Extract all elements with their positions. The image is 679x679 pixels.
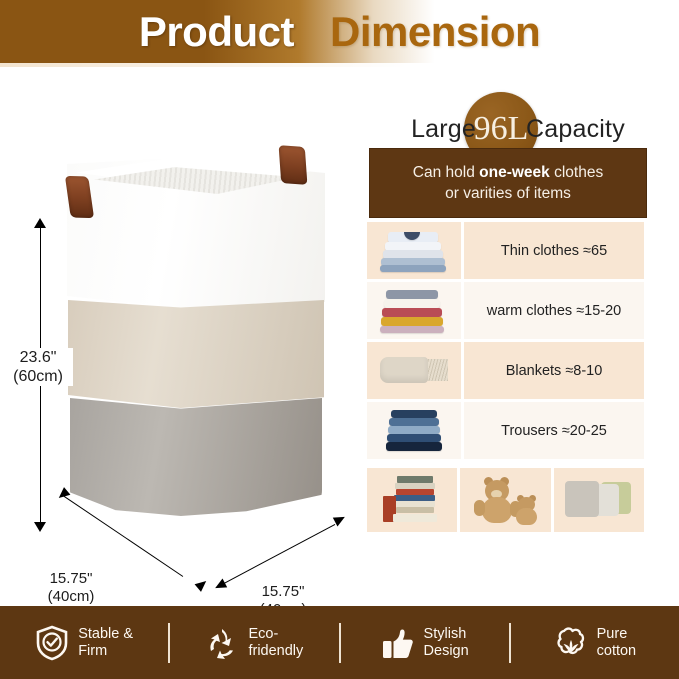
feature-badge-pure-cotton: Pure cotton bbox=[511, 606, 679, 679]
width-left-cm: (40cm) bbox=[28, 588, 114, 606]
feature-badge-eco-friendly: Eco- fridendly bbox=[170, 606, 338, 679]
shield-check-icon bbox=[35, 625, 69, 661]
blanket-shape bbox=[378, 351, 450, 391]
table-row: Trousers ≈20-25 bbox=[367, 402, 644, 459]
folded-thin-clothes-icon bbox=[367, 222, 464, 279]
basket-grey-section bbox=[70, 398, 322, 516]
capacity-table: Thin clothes ≈65 warm clothes ≈15-20 bbox=[367, 222, 644, 459]
capacity-prefix: Large bbox=[411, 115, 476, 144]
stack-of-books-icon bbox=[367, 468, 460, 532]
capacity-panel: Large 96L Capacity Can hold one-week clo… bbox=[360, 70, 679, 595]
depth-arrow-left bbox=[213, 579, 227, 593]
badge-line2: Design bbox=[424, 643, 469, 660]
table-row-label: warm clothes ≈15-20 bbox=[464, 282, 644, 339]
badge-line2: fridendly bbox=[248, 643, 303, 660]
title-word-dimension: Dimension bbox=[330, 8, 540, 56]
capacity-suffix: Capacity bbox=[526, 115, 625, 144]
table-row-label: Blankets ≈8-10 bbox=[464, 342, 644, 399]
table-row: warm clothes ≈15-20 bbox=[367, 282, 644, 339]
basket-body bbox=[62, 140, 330, 525]
feature-badge-label: Eco- fridendly bbox=[248, 626, 303, 660]
towel-stack-shape bbox=[380, 290, 448, 332]
leather-handle-right-icon bbox=[279, 145, 308, 185]
throw-pillows-icon bbox=[554, 468, 644, 532]
badge-line2: Firm bbox=[78, 643, 133, 660]
width-arrow-left-lower bbox=[195, 577, 210, 592]
thumbs-up-icon bbox=[381, 625, 415, 661]
basket-product-image bbox=[62, 140, 330, 525]
depth-inch: 15.75" bbox=[240, 583, 326, 601]
recycle-icon bbox=[205, 625, 239, 661]
capacity-value: 96L bbox=[474, 112, 529, 146]
height-dimension-label: 23.6" (60cm) bbox=[3, 348, 73, 386]
badge-line1: Eco- bbox=[248, 626, 303, 643]
pillows-shape bbox=[561, 476, 637, 524]
depth-dimension-line-right bbox=[220, 524, 335, 586]
height-value-inch: 23.6" bbox=[3, 348, 73, 367]
badge-line1: Pure bbox=[597, 626, 637, 643]
capacity-description-line2: or varities of items bbox=[445, 183, 571, 204]
capacity-headline: Large 96L Capacity bbox=[368, 106, 668, 152]
hold-text-c: clothes bbox=[550, 164, 603, 181]
badge-line1: Stable & bbox=[78, 626, 133, 643]
dimension-diagram-panel: 23.6" (60cm) 15.75" (40cm) 15.75" (40cm)… bbox=[0, 70, 360, 595]
page-title: Product Dimension bbox=[0, 0, 679, 63]
width-dimension-label-left: 15.75" (40cm) bbox=[28, 570, 114, 606]
teddy-bears-icon bbox=[460, 468, 553, 532]
feature-badge-label: Pure cotton bbox=[597, 626, 637, 660]
height-value-cm: (60cm) bbox=[3, 367, 73, 386]
jeans-stack-shape bbox=[386, 410, 442, 452]
header-underline bbox=[0, 63, 679, 67]
cotton-flower-icon bbox=[554, 625, 588, 661]
feature-badges-footer: Stable & Firm Eco- fridendly bbox=[0, 606, 679, 679]
badge-line1: Stylish bbox=[424, 626, 469, 643]
basket-beige-section bbox=[68, 300, 324, 408]
feature-badge-label: Stable & Firm bbox=[78, 626, 133, 660]
badge-line2: cotton bbox=[597, 643, 637, 660]
table-row: Blankets ≈8-10 bbox=[367, 342, 644, 399]
title-word-product: Product bbox=[139, 8, 294, 56]
extra-items-gallery bbox=[367, 468, 644, 532]
feature-badge-stable-firm: Stable & Firm bbox=[0, 606, 168, 679]
hold-text-bold: one-week bbox=[479, 164, 550, 181]
header-banner: Product Dimension bbox=[0, 0, 679, 63]
blanket-body bbox=[380, 357, 428, 383]
capacity-description-box: Can hold one-week clothes or varities of… bbox=[369, 148, 647, 218]
teddy-bear-shape bbox=[469, 475, 541, 525]
folded-warm-towels-icon bbox=[367, 282, 464, 339]
table-row-label: Trousers ≈20-25 bbox=[464, 402, 644, 459]
table-row-label: Thin clothes ≈65 bbox=[464, 222, 644, 279]
feature-badge-stylish-design: Stylish Design bbox=[341, 606, 509, 679]
feature-badge-label: Stylish Design bbox=[424, 626, 469, 660]
height-arrow-bottom bbox=[34, 522, 46, 532]
books-shape bbox=[381, 474, 443, 526]
capacity-description-line1: Can hold one-week clothes bbox=[413, 162, 603, 183]
width-left-inch: 15.75" bbox=[28, 570, 114, 588]
table-row: Thin clothes ≈65 bbox=[367, 222, 644, 279]
hold-text-a: Can hold bbox=[413, 164, 479, 181]
folded-blanket-icon bbox=[367, 342, 464, 399]
blanket-fringe bbox=[426, 359, 448, 381]
folded-jeans-icon bbox=[367, 402, 464, 459]
shirt-stack-shape bbox=[380, 230, 448, 272]
product-dimension-infographic: Product Dimension 23.6" (60cm) bbox=[0, 0, 679, 679]
